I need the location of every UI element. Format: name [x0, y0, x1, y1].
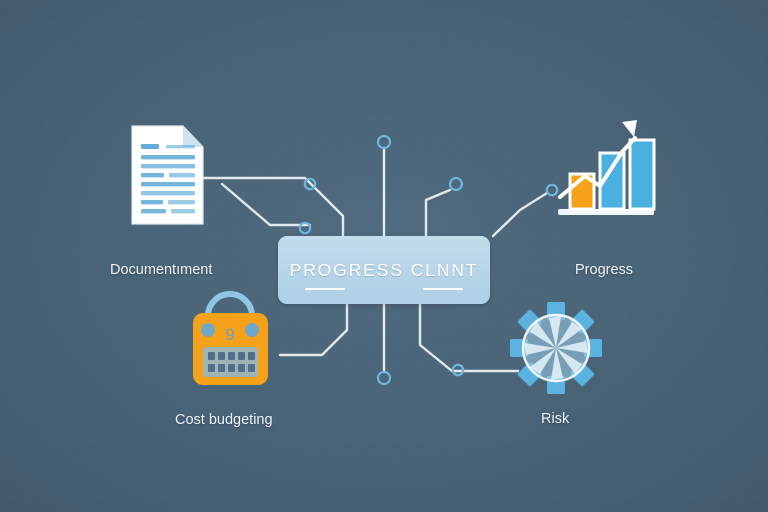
calendar-day-glyph: 9: [225, 325, 234, 344]
center-badge-title: PROGRESS CLNNT: [290, 260, 479, 281]
center-badge[interactable]: PROGRESS CLNNT: [278, 236, 490, 304]
infographic-canvas: 9: [0, 0, 768, 512]
node-label-risk: Risk: [541, 411, 569, 427]
node-label-progress: Progress: [575, 262, 633, 278]
pinwheel-gear-icon[interactable]: [510, 302, 602, 394]
node-label-cost-budgeting: Cost budgeting: [175, 412, 273, 428]
badge-underline-right: [423, 288, 463, 290]
node-label-documentation: Documentıment: [110, 262, 212, 278]
badge-underline-left: [305, 288, 345, 290]
badge-underline-marks: [278, 288, 490, 290]
bar-chart-growth-icon[interactable]: [558, 120, 654, 215]
calendar-icon[interactable]: 9: [193, 294, 268, 385]
document-icon[interactable]: [132, 126, 203, 224]
